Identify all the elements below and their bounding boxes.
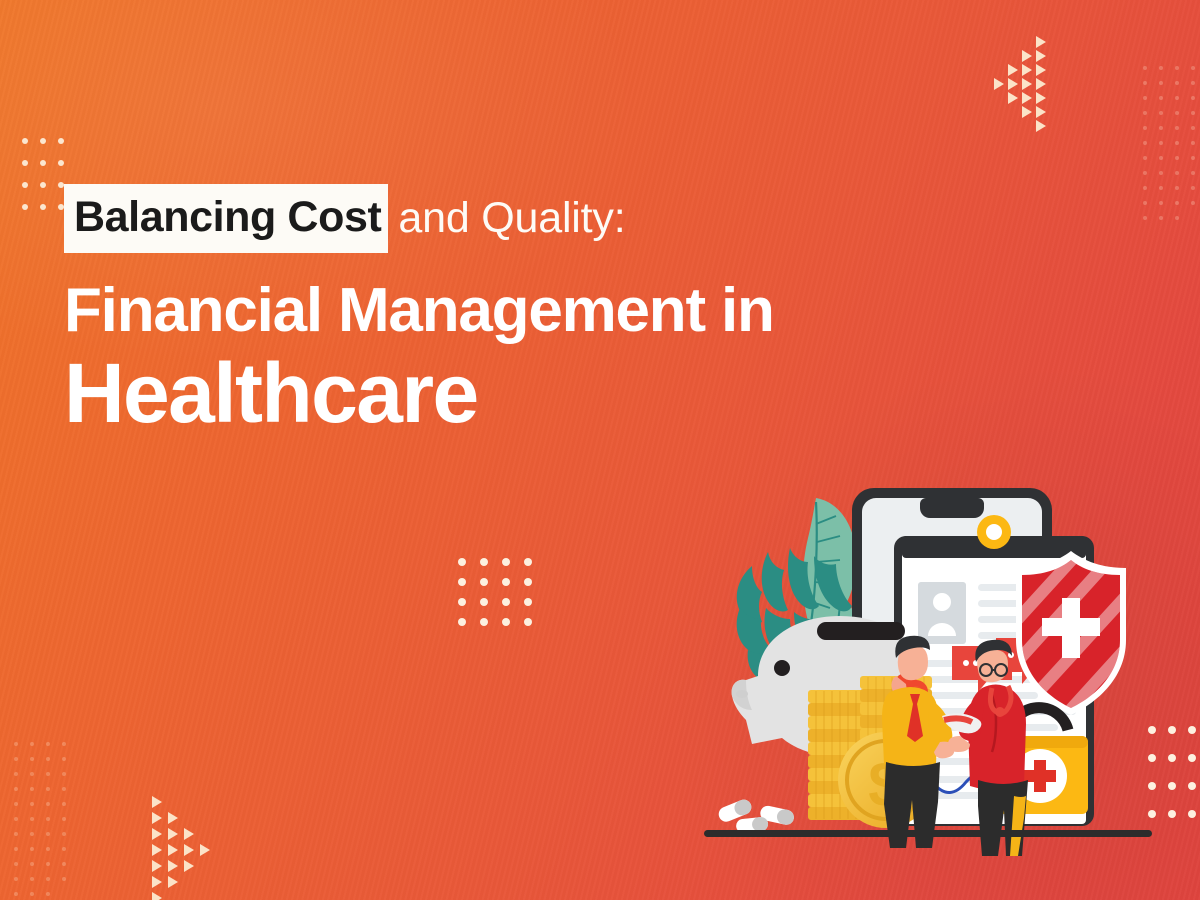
decor-triangle-cluster-top-right [992,36,1062,106]
headline-highlight: Balancing Cost [64,184,388,253]
promo-banner: Balancing Cost and Quality: Financial Ma… [0,0,1200,900]
decor-dot-grid-center [458,558,546,638]
headline-line-1-rest: and Quality: [398,197,625,240]
headline-line-3: Healthcare [64,349,924,437]
pills-icon [716,797,795,833]
headline-block: Balancing Cost and Quality: Financial Ma… [64,182,924,437]
decor-triangle-cluster-bottom-left [150,796,225,866]
headline-line-2: Financial Management in [64,278,924,343]
healthcare-finance-illustration: $ [690,480,1190,860]
ground-line [704,830,1152,837]
decor-dot-grid-faint-bottom-left [14,742,78,900]
headline-line-1: Balancing Cost and Quality: [64,182,924,254]
decor-dot-grid-faint-top-right [1143,66,1200,231]
